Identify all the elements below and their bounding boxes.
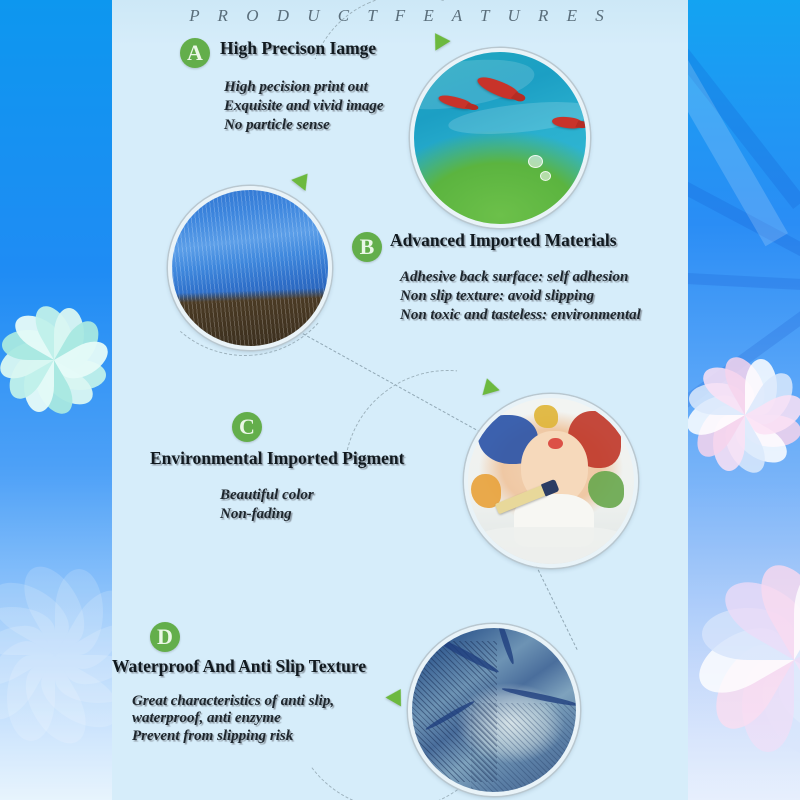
blue-fabric-photo bbox=[168, 186, 332, 350]
flower-petal bbox=[0, 570, 79, 655]
feature-line-b-3: Non toxic and tasteless: environmental bbox=[400, 306, 641, 325]
feature-line-d-3: Prevent from slipping risk bbox=[132, 727, 293, 746]
flower-petal bbox=[0, 607, 55, 655]
flower-petal bbox=[714, 569, 800, 660]
flower-petal bbox=[28, 360, 80, 420]
flower-petal bbox=[702, 608, 794, 660]
flower-petal bbox=[28, 300, 80, 360]
feature-heading-a: High Precison Iamge bbox=[220, 38, 376, 59]
flower-petal bbox=[717, 351, 773, 415]
flower-petal bbox=[54, 360, 106, 390]
flower-petal bbox=[794, 614, 800, 705]
flower-petal bbox=[729, 415, 793, 471]
feature-heading-b: Advanced Imported Materials bbox=[390, 230, 617, 251]
flower-petal bbox=[9, 308, 69, 360]
feature-line-b-2: Non slip texture: avoid slipping bbox=[400, 287, 594, 306]
feature-line-b-1: Adhesive back surface: self adhesion bbox=[400, 268, 628, 287]
anti-slip-hatch-right bbox=[471, 703, 576, 792]
flower-petal bbox=[697, 359, 761, 415]
feature-line-a-2: Exquisite and vivid image bbox=[224, 97, 384, 116]
flower-petal bbox=[742, 660, 794, 752]
water-drop-b bbox=[540, 171, 551, 181]
flower-petal bbox=[745, 359, 777, 415]
feature-heading-c: Environmental Imported Pigment bbox=[150, 448, 404, 469]
feature-line-a-3: No particle sense bbox=[224, 116, 330, 135]
feature-line-c-2: Non-fading bbox=[220, 505, 292, 524]
flower-petal bbox=[749, 660, 800, 766]
feature-badge-b: B bbox=[352, 232, 382, 262]
flower-petal bbox=[688, 387, 745, 443]
right-pinwheel-flower-middle bbox=[688, 350, 800, 480]
flower-petal bbox=[745, 367, 800, 431]
feature-badge-a: A bbox=[180, 38, 210, 68]
flower-petal bbox=[748, 554, 800, 660]
flower-petal bbox=[794, 568, 800, 660]
flower-petal bbox=[13, 655, 98, 753]
flower-petal bbox=[7, 655, 55, 741]
flower-petal bbox=[54, 308, 84, 360]
water-droplet-texture-photo bbox=[408, 624, 580, 796]
blue-fabric-photo-inner bbox=[172, 190, 328, 346]
feature-badge-c: C bbox=[232, 412, 262, 442]
flower-petal bbox=[703, 634, 794, 740]
feature-badge-d: D bbox=[150, 622, 180, 652]
flower-petal bbox=[12, 557, 97, 655]
fabric-weave-texture bbox=[172, 190, 328, 346]
flower-petal bbox=[55, 655, 112, 703]
right-pinwheel-flower-bottom bbox=[694, 560, 800, 760]
left-decorative-band bbox=[0, 0, 112, 800]
flower-petal bbox=[55, 569, 103, 655]
flower-petal bbox=[717, 415, 773, 479]
flower-petal bbox=[794, 660, 800, 712]
feature-line-c-1: Beautiful color bbox=[220, 486, 314, 505]
painting-baby-photo bbox=[464, 394, 638, 568]
feature-heading-d: Waterproof And Anti Slip Texture bbox=[112, 656, 366, 677]
flower-petal bbox=[0, 631, 55, 729]
flower-petal bbox=[39, 360, 99, 412]
flower-petal bbox=[745, 387, 800, 443]
right-decorative-band bbox=[688, 0, 800, 800]
flower-petal bbox=[2, 345, 54, 405]
flower-petal bbox=[55, 612, 112, 697]
flower-petal bbox=[768, 660, 800, 751]
water-drop-a bbox=[528, 155, 543, 168]
flower-petal bbox=[54, 315, 106, 375]
flower-petal bbox=[55, 581, 112, 679]
left-pinwheel-flower-bottom bbox=[0, 560, 112, 750]
flower-petal bbox=[2, 330, 54, 360]
content-panel: P R O D U C T F E A T U R E S A High Pre… bbox=[112, 0, 688, 800]
painting-baby-photo-inner bbox=[468, 398, 634, 564]
koi-pond-photo-inner bbox=[414, 52, 586, 224]
flower-petal bbox=[689, 383, 745, 415]
flower-petal bbox=[794, 580, 800, 686]
flower-petal bbox=[713, 415, 745, 471]
flower-petal bbox=[688, 615, 794, 706]
product-features-infographic: P R O D U C T F E A T U R E S A High Pre… bbox=[0, 0, 800, 800]
water-droplet-texture-photo-inner bbox=[412, 628, 576, 792]
flower-petal bbox=[54, 334, 112, 386]
koi-pond-photo bbox=[410, 48, 590, 228]
flower-petal bbox=[31, 655, 112, 740]
flower-petal bbox=[689, 399, 745, 463]
feature-line-a-1: High pecision print out bbox=[224, 78, 368, 97]
flower-petal bbox=[0, 334, 54, 386]
diagonal-stripes bbox=[688, 0, 800, 800]
flower-petal bbox=[745, 415, 800, 447]
flower-petal bbox=[24, 360, 54, 412]
flower-petal bbox=[0, 613, 55, 698]
left-pinwheel-flower-top bbox=[0, 300, 112, 420]
feature-line-d-2: waterproof, anti enzyme bbox=[132, 709, 281, 728]
